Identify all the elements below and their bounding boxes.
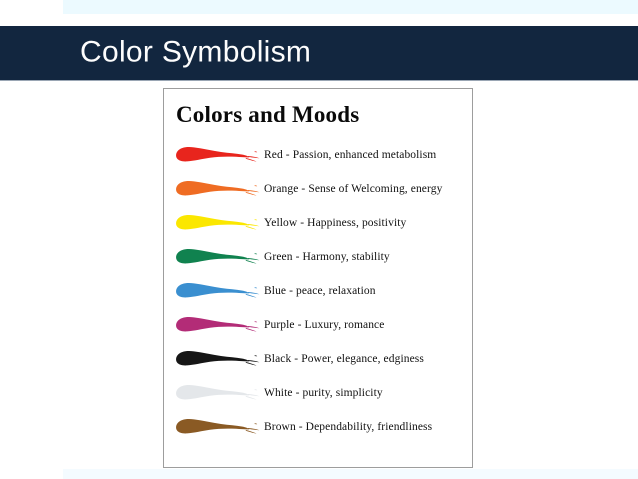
colors-and-moods-image: Colors and Moods Red - Passion, enhanced…	[163, 88, 473, 468]
mood-label: White - purity, simplicity	[264, 387, 383, 399]
color-swatch-green	[174, 246, 262, 268]
swatch-cell	[164, 212, 264, 234]
color-swatch-purple	[174, 314, 262, 336]
color-swatch-black	[174, 348, 262, 370]
bottom-tint-band	[63, 469, 638, 479]
swatch-cell	[164, 348, 264, 370]
swatch-cell	[164, 314, 264, 336]
mood-row: Black - Power, elegance, edginess	[164, 342, 472, 376]
swatch-cell	[164, 416, 264, 438]
mood-list: Red - Passion, enhanced metabolismOrange…	[164, 138, 472, 444]
mood-label: Blue - peace, relaxation	[264, 285, 376, 297]
mood-label: Red - Passion, enhanced metabolism	[264, 149, 436, 161]
mood-label: Black - Power, elegance, edginess	[264, 353, 424, 365]
mood-row: Brown - Dependability, friendliness	[164, 410, 472, 444]
color-swatch-orange	[174, 178, 262, 200]
color-swatch-blue	[174, 280, 262, 302]
color-swatch-yellow	[174, 212, 262, 234]
swatch-cell	[164, 246, 264, 268]
mood-row: Yellow - Happiness, positivity	[164, 206, 472, 240]
color-swatch-white	[174, 382, 262, 404]
mood-label: Purple - Luxury, romance	[264, 319, 384, 331]
swatch-cell	[164, 144, 264, 166]
mood-row: Red - Passion, enhanced metabolism	[164, 138, 472, 172]
page-title: Color Symbolism	[80, 35, 311, 69]
slide-canvas: Color Symbolism Colors and Moods Red - P…	[0, 0, 638, 479]
color-swatch-red	[174, 144, 262, 166]
mood-row: White - purity, simplicity	[164, 376, 472, 410]
swatch-cell	[164, 178, 264, 200]
color-swatch-brown	[174, 416, 262, 438]
mood-label: Orange - Sense of Welcoming, energy	[264, 183, 442, 195]
mood-row: Orange - Sense of Welcoming, energy	[164, 172, 472, 206]
mood-row: Green - Harmony, stability	[164, 240, 472, 274]
slide-title-bar: Color Symbolism	[0, 26, 638, 81]
mood-label: Brown - Dependability, friendliness	[264, 421, 432, 433]
swatch-cell	[164, 280, 264, 302]
mood-row: Blue - peace, relaxation	[164, 274, 472, 308]
image-heading: Colors and Moods	[176, 103, 472, 126]
mood-label: Yellow - Happiness, positivity	[264, 217, 406, 229]
swatch-cell	[164, 382, 264, 404]
top-tint-band	[63, 0, 638, 14]
mood-row: Purple - Luxury, romance	[164, 308, 472, 342]
mood-label: Green - Harmony, stability	[264, 251, 390, 263]
